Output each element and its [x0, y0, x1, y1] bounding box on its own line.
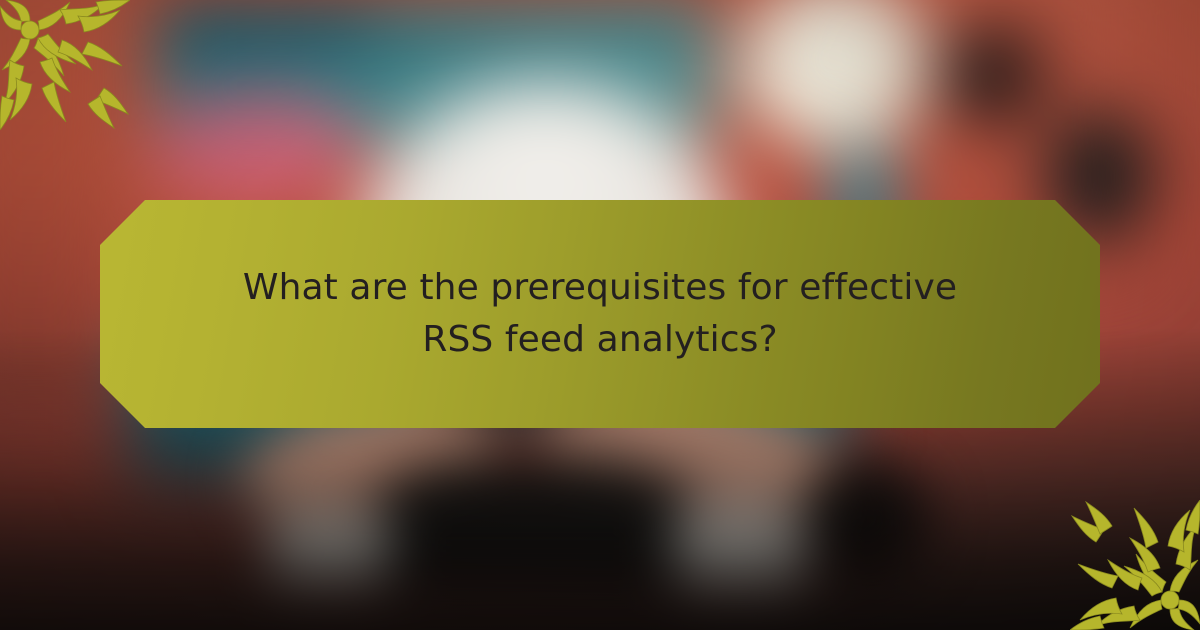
background-shape-dark-c: [800, 460, 930, 580]
floral-corner-ornament-icon: [1070, 500, 1200, 630]
headline-banner: What are the prerequisites for effective…: [100, 200, 1100, 428]
background-shape-white-lower-right: [675, 508, 805, 588]
floral-corner-ornament-icon: [0, 0, 130, 130]
background-shape-white-lower-left: [270, 515, 390, 585]
background-shape-torso: [370, 460, 700, 590]
headline-text: What are the prerequisites for effective…: [230, 262, 970, 366]
social-share-card: What are the prerequisites for effective…: [0, 0, 1200, 630]
